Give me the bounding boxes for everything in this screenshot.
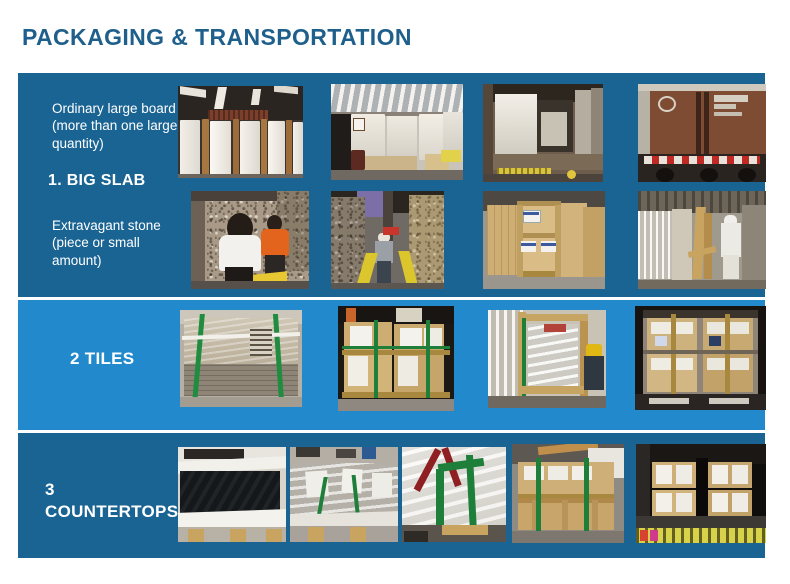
tiles-label-column: 2 TILES	[18, 300, 178, 430]
photo-wooden-crates-with-labels	[483, 191, 605, 289]
photo-worker-loading-crate-into-container	[638, 191, 766, 289]
photo-worker-walking-between-slab-bundles	[331, 191, 444, 289]
photo-grey-wrapped-countertops-bundle	[290, 447, 398, 542]
label-big-slab-heading: 1. BIG SLAB	[48, 171, 146, 191]
photo-strapped-wooden-crates-of-countertops	[512, 444, 624, 543]
countertops-label-column: 3 COUNTERTOPS	[18, 433, 178, 558]
photo-brown-shipping-container-on-truck	[638, 84, 766, 182]
photo-white-wrapped-bundle-with-green-strap	[402, 447, 506, 542]
photo-countertop-crates-inside-container	[636, 444, 766, 543]
label-countertops-heading: 3 COUNTERTOPS	[45, 479, 178, 523]
photo-wooden-pallet-crates-of-tiles	[338, 306, 454, 411]
big-slab-label-column: Ordinary large board (more than one larg…	[18, 73, 178, 297]
photo-workers-inspecting-granite-slab	[191, 191, 309, 289]
label-extravagant-stone: Extravagant stone (piece or small amount…	[52, 217, 180, 269]
label-ordinary-large-board: Ordinary large board (more than one larg…	[52, 100, 180, 152]
section-big-slab: Ordinary large board (more than one larg…	[18, 73, 765, 297]
photo-black-countertop-slab-on-rack	[178, 447, 286, 542]
photo-white-wrapped-slabs-warehouse	[178, 86, 303, 178]
page-title: PACKAGING & TRANSPORTATION	[22, 24, 412, 51]
photo-wrapped-tile-crate-being-loaded	[488, 310, 606, 408]
section-tiles: 2 TILES	[18, 300, 765, 430]
photo-strapped-tile-bundle-on-pallet	[180, 310, 302, 407]
photo-slabs-inside-open-container	[483, 84, 603, 182]
photo-container-packed-with-tile-crates	[635, 306, 766, 410]
section-countertops: 3 COUNTERTOPS	[18, 433, 765, 558]
photo-slabs-loaded-in-truck-trailer	[331, 84, 463, 180]
label-tiles-heading: 2 TILES	[70, 348, 134, 370]
slide-root: PACKAGING & TRANSPORTATION Ordinary larg…	[0, 0, 790, 584]
